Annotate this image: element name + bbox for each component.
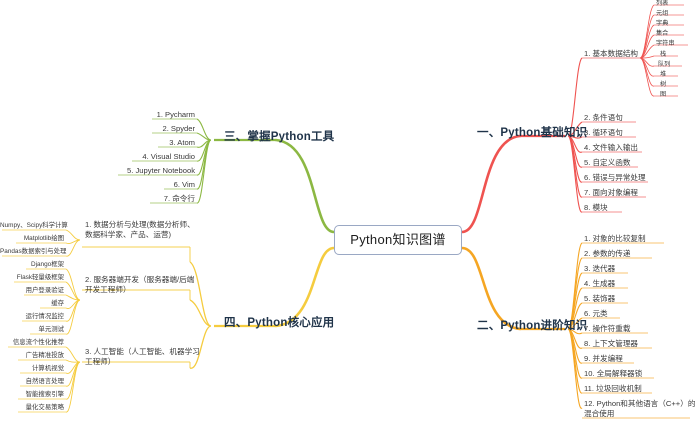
mindmap-canvas: Python知识图谱 一、Python基础知识 1. 基本数据结构 2. 条件语… [0, 0, 700, 425]
branch-title-tools[interactable]: 三、掌握Python工具 [224, 131, 334, 144]
tools-item-2[interactable]: 2. Spyder [97, 125, 195, 134]
ai-leaf-2[interactable]: 广告精准投放 [0, 352, 64, 359]
server-leaf-6[interactable]: 单元测试 [0, 326, 64, 333]
datastructure-leaf-4[interactable]: 集合 [656, 30, 668, 37]
server-leaf-2[interactable]: Flask轻量级框架 [0, 274, 64, 281]
advanced-item-6[interactable]: 6. 元类 [584, 310, 608, 319]
advanced-item-1[interactable]: 1. 对象的比较复制 [584, 235, 646, 244]
dataproc-leaf-1[interactable]: Numpy、Scipy科学计算 [0, 222, 64, 229]
tools-item-4[interactable]: 4. Visual Studio [97, 153, 195, 162]
branch-label: 四、Python核心应用 [224, 317, 334, 329]
dataproc-leaf-2[interactable]: Matplotlib绘图 [0, 235, 64, 242]
datastructure-leaf-6[interactable]: 栈 [660, 51, 666, 58]
basics-item-6[interactable]: 6. 错误与异常处理 [584, 174, 646, 183]
core-item-3[interactable]: 3. 人工智能（人工智能、机器学习工程师） [85, 347, 201, 368]
server-leaf-5[interactable]: 运行情况监控 [0, 313, 64, 320]
advanced-item-2[interactable]: 2. 参数的传递 [584, 250, 630, 259]
core-item-1[interactable]: 1. 数据分析与处理(数据分析师、数据科学家、产品、运营) [85, 220, 201, 241]
datastructure-leaf-7[interactable]: 队列 [658, 61, 670, 68]
datastructure-leaf-10[interactable]: 图 [660, 91, 666, 98]
advanced-item-9[interactable]: 9. 并发编程 [584, 355, 623, 364]
server-leaf-3[interactable]: 用户登录验证 [0, 287, 64, 294]
advanced-item-4[interactable]: 4. 生成器 [584, 280, 615, 289]
advanced-item-7[interactable]: 7. 操作符重载 [584, 325, 630, 334]
tools-item-7[interactable]: 7. 命令行 [97, 195, 195, 204]
basics-item-7[interactable]: 7. 面向对象编程 [584, 189, 638, 198]
dataproc-leaf-3[interactable]: Pandas数据索引与处理 [0, 248, 64, 255]
ai-leaf-4[interactable]: 自然语言处理 [0, 378, 64, 385]
tools-item-3[interactable]: 3. Atom [97, 139, 195, 148]
basics-item-8[interactable]: 8. 模块 [584, 204, 608, 213]
advanced-item-8[interactable]: 8. 上下文管理器 [584, 340, 638, 349]
advanced-item-10[interactable]: 10. 全局解释器锁 [584, 370, 642, 379]
root-node[interactable]: Python知识图谱 [334, 225, 462, 255]
ai-leaf-5[interactable]: 智能搜索引擎 [0, 391, 64, 398]
branch-label: 一、Python基础知识 [477, 127, 587, 139]
server-leaf-1[interactable]: Django框架 [0, 261, 64, 268]
tools-item-6[interactable]: 6. Vim [97, 181, 195, 190]
branch-title-advanced[interactable]: 二、Python进阶知识 [477, 320, 587, 333]
datastructure-leaf-9[interactable]: 树 [660, 81, 666, 88]
advanced-item-3[interactable]: 3. 迭代器 [584, 265, 615, 274]
branch-label: 三、掌握Python工具 [224, 131, 334, 143]
branch-label: 二、Python进阶知识 [477, 320, 587, 332]
tools-item-5[interactable]: 5. Jupyter Notebook [97, 167, 195, 176]
advanced-item-12[interactable]: 12. Python和其他语言（C++）的混合使用 [584, 399, 696, 420]
advanced-item-5[interactable]: 5. 装饰器 [584, 295, 615, 304]
datastructure-leaf-3[interactable]: 字典 [656, 20, 668, 27]
branch-title-basics[interactable]: 一、Python基础知识 [477, 127, 587, 140]
ai-leaf-3[interactable]: 计算机视觉 [0, 365, 64, 372]
server-leaf-4[interactable]: 缓存 [0, 300, 64, 307]
basics-item-1[interactable]: 1. 基本数据结构 [584, 50, 638, 59]
basics-item-4[interactable]: 4. 文件输入输出 [584, 144, 638, 153]
datastructure-leaf-2[interactable]: 元组 [656, 10, 668, 17]
ai-leaf-6[interactable]: 量化交易策略 [0, 404, 64, 411]
basics-item-2[interactable]: 2. 条件语句 [584, 114, 623, 123]
core-item-2[interactable]: 2. 服务器端开发（服务器端/后端开发工程师） [85, 275, 201, 296]
ai-leaf-1[interactable]: 信息流个性化推荐 [0, 339, 64, 346]
branch-title-core[interactable]: 四、Python核心应用 [224, 317, 334, 330]
datastructure-leaf-8[interactable]: 堆 [660, 71, 666, 78]
advanced-item-11[interactable]: 11. 垃圾回收机制 [584, 385, 642, 394]
datastructure-leaf-5[interactable]: 字符串 [656, 40, 675, 47]
basics-item-5[interactable]: 5. 自定义函数 [584, 159, 630, 168]
tools-item-1[interactable]: 1. Pycharm [97, 111, 195, 120]
root-label: Python知识图谱 [350, 233, 445, 248]
datastructure-leaf-1[interactable]: 列表 [656, 0, 668, 7]
basics-item-3[interactable]: 3. 循环语句 [584, 129, 623, 138]
